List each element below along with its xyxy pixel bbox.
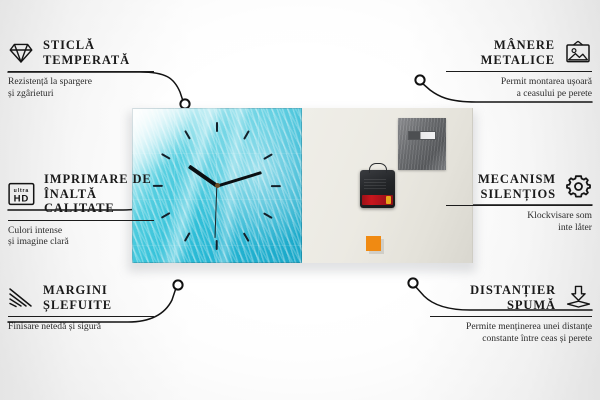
diagonal-lines-icon: [8, 287, 34, 309]
callout-subtitle: Finisare netedă și sigură: [8, 321, 154, 332]
callout-title-row: ultra HD IMPRIMARE DE ÎNALTĂ CALITATE: [8, 172, 154, 216]
callout-title: IMPRIMARE DE ÎNALTĂ CALITATE: [44, 172, 154, 216]
callout-polished-edges: MARGINI ȘLEFUITE Finisare netedă și sigu…: [8, 283, 154, 333]
callout-rule: [446, 71, 592, 72]
callout-rule: [8, 71, 154, 72]
clock-mechanism: [360, 170, 395, 208]
product-image: [132, 108, 472, 266]
hanger-slot: [408, 131, 436, 140]
callout-subtitle: Rezistență la spargere și zgârieturi: [8, 76, 154, 99]
mechanism-hanger-loop: [369, 163, 387, 173]
callout-rule: [8, 316, 154, 317]
leader-endpoint: [408, 278, 417, 287]
callout-hd-print: ultra HD IMPRIMARE DE ÎNALTĂ CALITATE Cu…: [8, 172, 154, 248]
callout-title-row: STICLĂ TEMPERATĂ: [8, 38, 154, 67]
battery: [362, 195, 393, 205]
callout-tempered-glass: STICLĂ TEMPERATĂ Rezistență la spargere …: [8, 38, 154, 99]
callout-title: MARGINI ȘLEFUITE: [43, 283, 112, 312]
callout-subtitle: Permite menținerea unei distanțe constan…: [430, 321, 592, 344]
clock-dial: [132, 108, 302, 263]
metal-hanger-plate: [398, 118, 446, 170]
callout-subtitle: Culori intense și imagine clară: [8, 225, 154, 248]
leader-endpoint: [415, 75, 424, 84]
callout-metal-handles: MÂNERE METALICE Permit montarea ușoară a…: [446, 38, 592, 99]
callout-title: MECANISM SILENȚIOS: [446, 172, 556, 201]
leader-endpoint: [173, 280, 182, 289]
clock-minute-hand: [217, 171, 262, 187]
callout-rule: [8, 220, 154, 221]
svg-text:HD: HD: [14, 193, 30, 204]
mechanism-detail: [364, 179, 386, 189]
clock-second-hand: [215, 185, 218, 237]
clock-front-panel: [132, 108, 304, 263]
clock-center-cap: [215, 183, 220, 188]
callout-title-row: DISTANȚIER SPUMĂ: [430, 283, 592, 312]
gear-icon: [565, 174, 592, 199]
callout-title-row: MÂNERE METALICE: [446, 38, 592, 67]
product-feature-infographic: STICLĂ TEMPERATĂ Rezistență la spargere …: [0, 0, 600, 400]
callout-title: MÂNERE METALICE: [446, 38, 555, 67]
callout-title-row: MECANISM SILENȚIOS: [446, 172, 592, 201]
callout-title: DISTANȚIER SPUMĂ: [430, 283, 556, 312]
picture-frame-icon: [564, 40, 592, 65]
foam-spacer: [366, 236, 381, 251]
callout-title-row: MARGINI ȘLEFUITE: [8, 283, 154, 312]
callout-rule: [430, 316, 592, 317]
down-arrow-stack-icon: [565, 285, 592, 310]
callout-rule: [446, 205, 592, 206]
callout-silent-mechanism: MECANISM SILENȚIOS Klockvisare som inte …: [446, 172, 592, 233]
ultra-hd-icon: ultra HD: [8, 182, 35, 206]
callout-title: STICLĂ TEMPERATĂ: [43, 38, 130, 67]
clock-hour-hand: [188, 165, 218, 187]
callout-foam-spacer: DISTANȚIER SPUMĂ Permite menținerea unei…: [430, 283, 592, 344]
callout-subtitle: Klockvisare som inte låter: [446, 210, 592, 233]
diamond-icon: [8, 42, 34, 64]
callout-subtitle: Permit montarea ușoară a ceasului pe per…: [446, 76, 592, 99]
